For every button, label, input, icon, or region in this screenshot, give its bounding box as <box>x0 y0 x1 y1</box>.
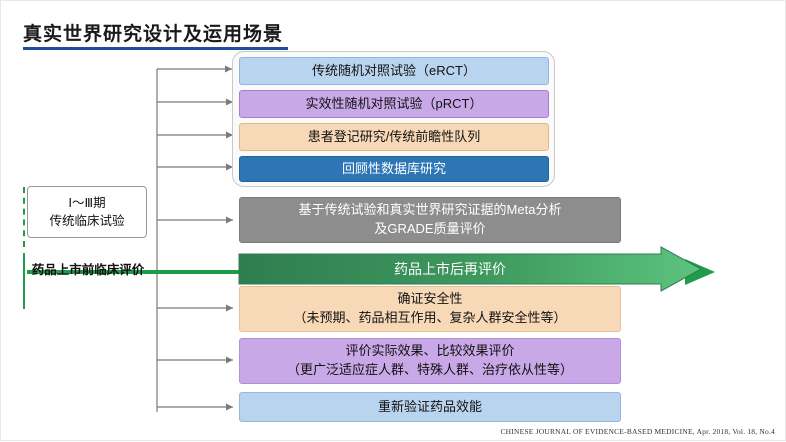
stage-line-2: 传统临床试验 <box>49 212 124 230</box>
box-patient-registry[interactable]: 患者登记研究/传统前瞻性队列 <box>239 123 549 151</box>
box-meta-analysis[interactable]: 基于传统试验和真实世界研究证据的Meta分析 及GRADE质量评价 <box>239 197 621 243</box>
effectiveness-line-2: （更广泛适应症人群、特殊人群、治疗依从性等） <box>287 361 573 380</box>
effectiveness-line-1: 评价实际效果、比较效果评价 <box>287 342 573 361</box>
box-safety-confirmation[interactable]: 确证安全性 （未预期、药品相互作用、复杂人群安全性等） <box>239 286 621 332</box>
stage-box-preclinical: Ⅰ～Ⅲ期 传统临床试验 <box>27 186 147 238</box>
box-effectiveness-evaluation[interactable]: 评价实际效果、比较效果评价 （更广泛适应症人群、特殊人群、治疗依从性等） <box>239 338 621 384</box>
safety-line-2: （未预期、药品相互作用、复杂人群安全性等） <box>293 309 566 328</box>
slide-canvas: 真实世界研究设计及运用场景 <box>0 0 786 441</box>
meta-line-2: 及GRADE质量评价 <box>299 220 562 239</box>
journal-footer: CHINESE JOURNAL OF EVIDENCE-BASED MEDICI… <box>500 427 775 436</box>
box-prct[interactable]: 实效性随机对照试验（pRCT） <box>239 90 549 118</box>
box-revalidate-efficacy[interactable]: 重新验证药品效能 <box>239 392 621 422</box>
premarket-evaluation-label: 药品上市前临床评价 <box>23 259 153 278</box>
meta-line-1: 基于传统试验和真实世界研究证据的Meta分析 <box>299 201 562 220</box>
stage-line-1: Ⅰ～Ⅲ期 <box>68 194 105 212</box>
safety-line-1: 确证安全性 <box>293 290 566 309</box>
page-title: 真实世界研究设计及运用场景 <box>23 19 283 46</box>
green-dashed-divider <box>23 187 25 247</box>
box-retrospective-database[interactable]: 回顾性数据库研究 <box>239 156 549 182</box>
title-underline <box>23 47 288 50</box>
postmarket-reevaluation-arrow-label: 药品上市后再评价 <box>239 254 661 284</box>
box-erct[interactable]: 传统随机对照试验（eRCT） <box>239 57 549 85</box>
